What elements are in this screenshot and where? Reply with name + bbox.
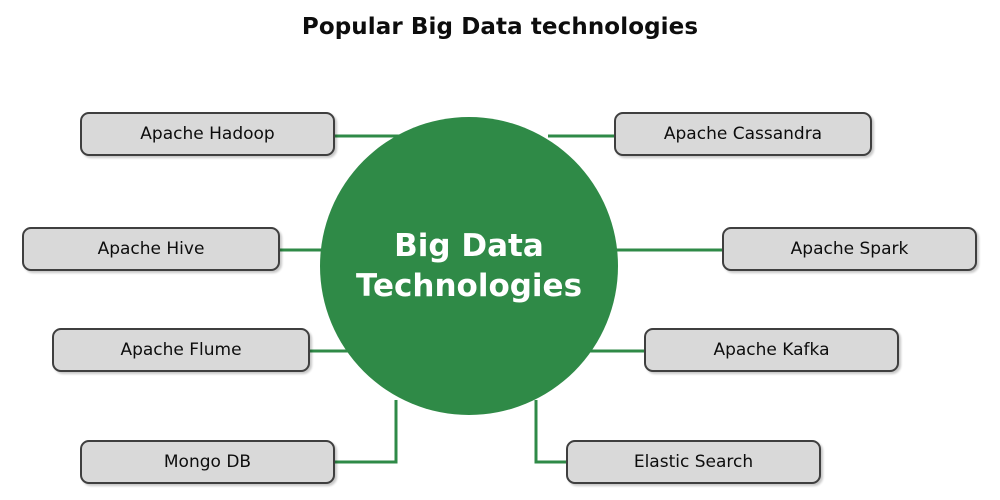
node-label-apache-hadoop: Apache Hadoop bbox=[140, 124, 274, 144]
connector-elastic-search bbox=[536, 400, 566, 462]
node-apache-spark[interactable]: Apache Spark bbox=[722, 227, 977, 271]
node-mongo-db[interactable]: Mongo DB bbox=[80, 440, 335, 484]
hub-label: Big Data Technologies bbox=[356, 226, 582, 307]
node-apache-hadoop[interactable]: Apache Hadoop bbox=[80, 112, 335, 156]
node-apache-hive[interactable]: Apache Hive bbox=[22, 227, 280, 271]
node-label-apache-hive: Apache Hive bbox=[98, 239, 205, 259]
node-label-apache-cassandra: Apache Cassandra bbox=[664, 124, 822, 144]
node-apache-flume[interactable]: Apache Flume bbox=[52, 328, 310, 372]
connector-mongo-db bbox=[335, 400, 396, 462]
diagram-canvas: Popular Big Data technologies Big Data T… bbox=[0, 0, 1000, 500]
hub-big-data-technologies[interactable]: Big Data Technologies bbox=[320, 117, 618, 415]
node-apache-kafka[interactable]: Apache Kafka bbox=[644, 328, 899, 372]
node-elastic-search[interactable]: Elastic Search bbox=[566, 440, 821, 484]
node-label-apache-flume: Apache Flume bbox=[120, 340, 241, 360]
node-label-apache-spark: Apache Spark bbox=[791, 239, 909, 259]
node-apache-cassandra[interactable]: Apache Cassandra bbox=[614, 112, 872, 156]
node-label-apache-kafka: Apache Kafka bbox=[713, 340, 829, 360]
node-label-elastic-search: Elastic Search bbox=[634, 452, 753, 472]
node-label-mongo-db: Mongo DB bbox=[164, 452, 251, 472]
